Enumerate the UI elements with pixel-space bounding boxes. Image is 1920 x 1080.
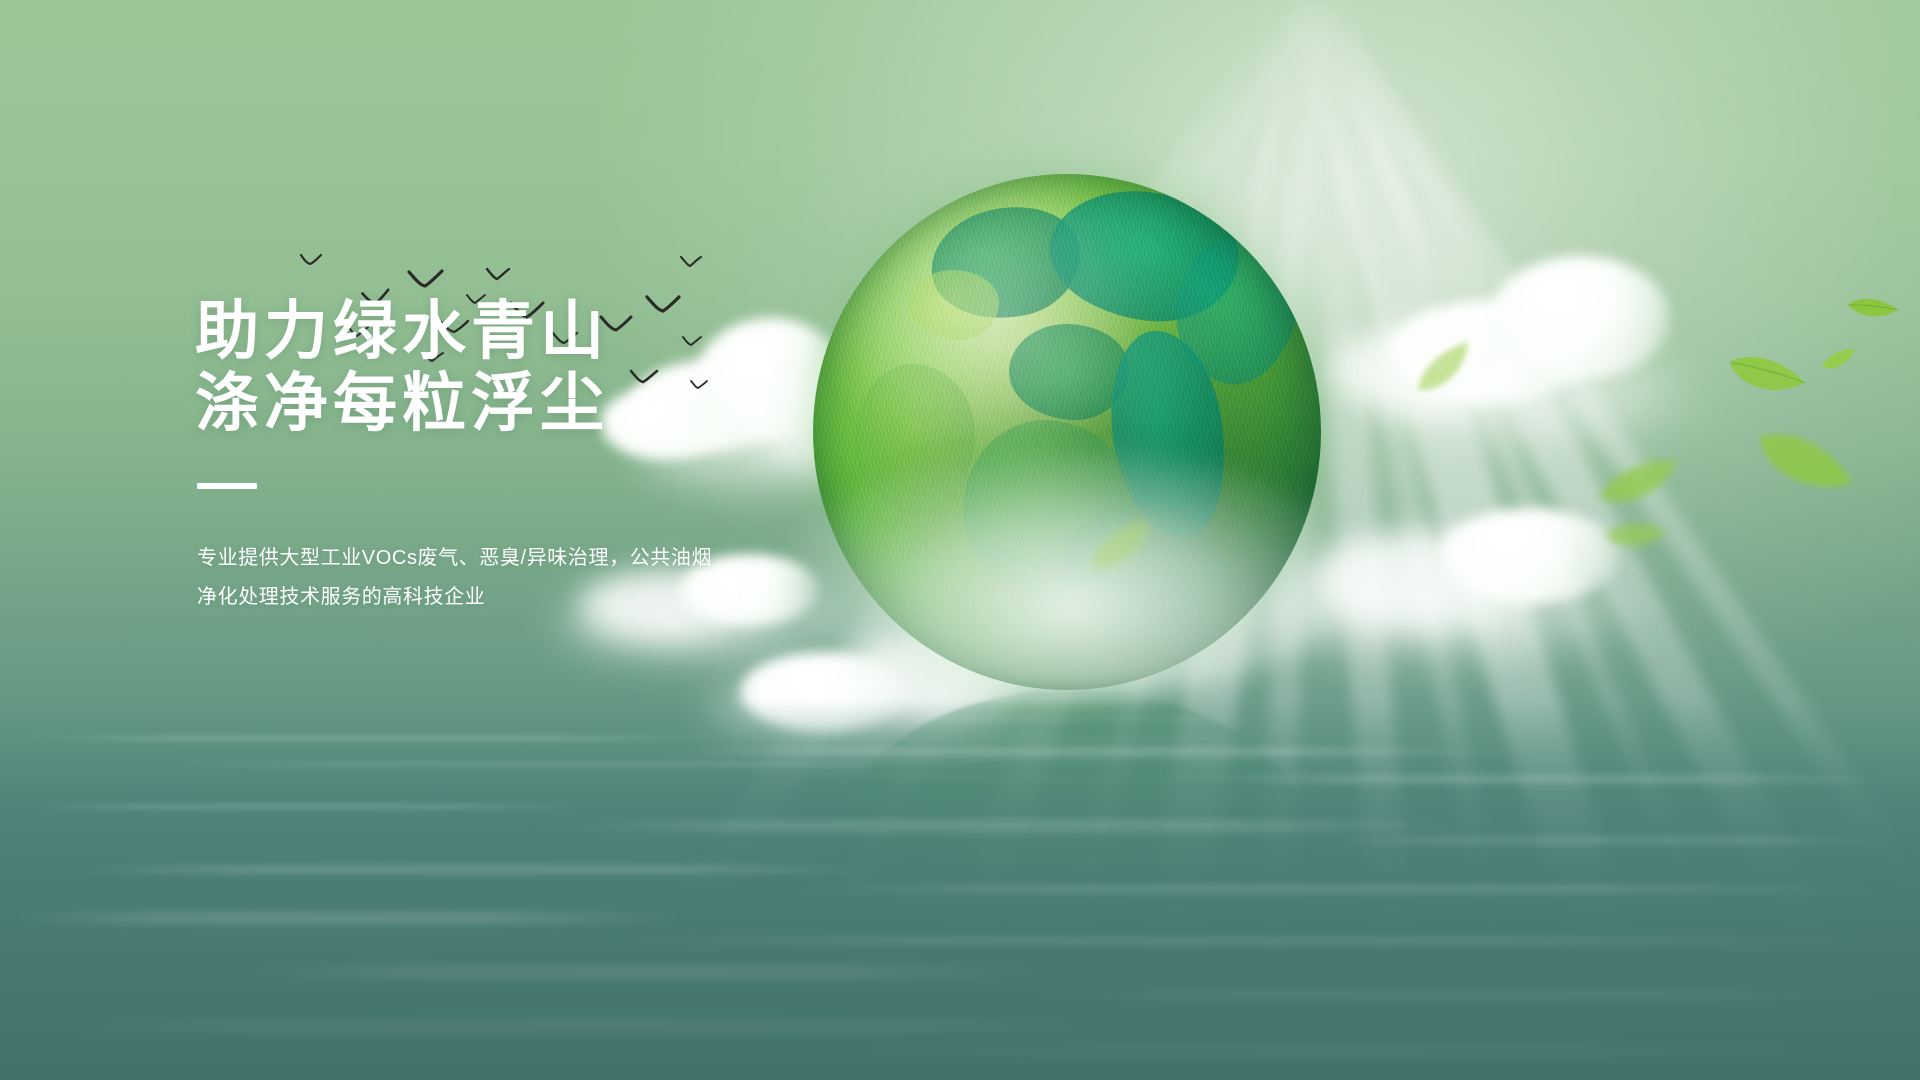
- leaf-icon: [1818, 346, 1860, 375]
- bird-icon: [300, 254, 326, 268]
- globe-water-reflection: [838, 690, 1308, 1020]
- hero-copy: 助力绿水青山 涤净每粒浮尘 专业提供大型工业VOCs废气、恶臭/异味治理，公共油…: [195, 296, 895, 617]
- leaf-icon: [1742, 406, 1858, 525]
- leaf-icon: [1406, 338, 1485, 401]
- hero-subtext: 专业提供大型工业VOCs废气、恶臭/异味治理，公共油烟净化处理技术服务的高科技企…: [197, 539, 727, 617]
- page-title: 助力绿水青山 涤净每粒浮尘: [195, 296, 895, 439]
- bird-icon: [408, 270, 444, 288]
- leaf-icon: [1601, 512, 1670, 562]
- leaf-icon: [1593, 456, 1684, 512]
- hero-banner: 助力绿水青山 涤净每粒浮尘 专业提供大型工业VOCs废气、恶臭/异味治理，公共油…: [0, 0, 1920, 1080]
- title-divider: [197, 483, 257, 489]
- bird-icon: [680, 256, 702, 268]
- leaf-icon: [1843, 287, 1901, 331]
- bird-icon: [486, 268, 510, 281]
- headline-line-1: 助力绿水青山: [195, 295, 609, 367]
- leaf-icon: [1718, 335, 1808, 418]
- headline-line-2: 涤净每粒浮尘: [195, 368, 895, 440]
- cloud-right-upper: [1330, 230, 1730, 450]
